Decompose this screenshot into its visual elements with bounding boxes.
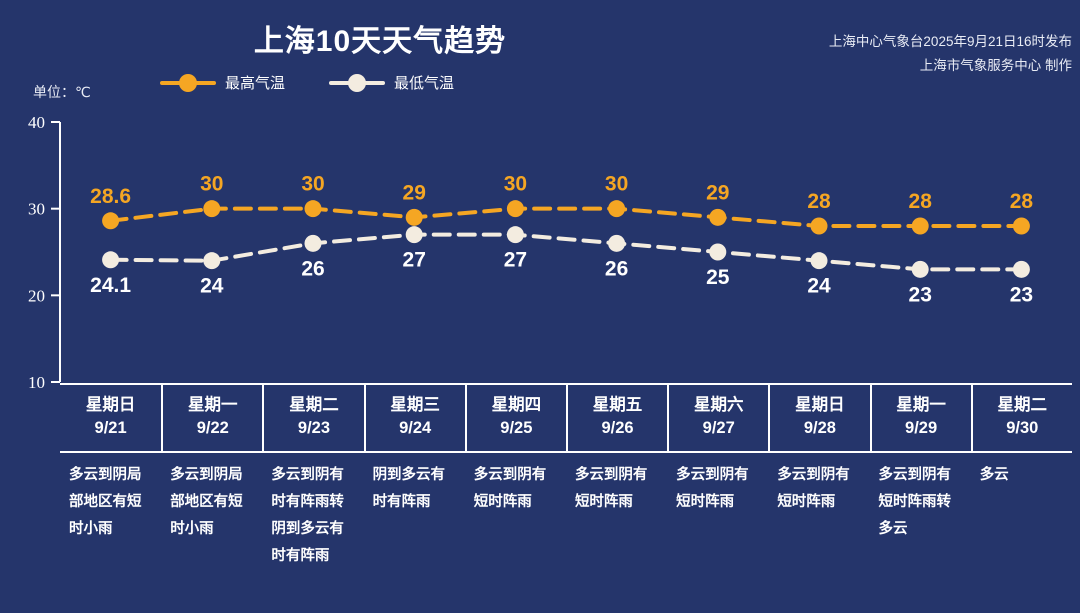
day-weekday: 星期日 — [60, 394, 161, 417]
low-temp-label: 26 — [605, 257, 628, 280]
high-temp-label: 29 — [403, 181, 426, 204]
forecast-day-column[interactable]: 星期一9/22多云到阴局部地区有短时小雨 — [161, 385, 262, 570]
forecast-day-column[interactable]: 星期三9/24阴到多云有时有阵雨 — [364, 385, 465, 570]
svg-text:20: 20 — [28, 286, 45, 305]
high-temp-label: 30 — [605, 173, 628, 196]
forecast-day-column[interactable]: 星期四9/25多云到阴有短时阵雨 — [465, 385, 566, 570]
day-date: 9/23 — [264, 417, 363, 440]
day-header: 星期日9/28 — [768, 385, 869, 451]
day-weekday: 星期一 — [872, 394, 971, 417]
day-header: 星期一9/29 — [870, 385, 971, 451]
high-temp-label: 30 — [301, 173, 324, 196]
day-weekday: 星期二 — [264, 394, 363, 417]
day-weekday: 星期一 — [163, 394, 262, 417]
day-header: 星期四9/25 — [465, 385, 566, 451]
low-temp-label: 27 — [403, 249, 426, 272]
day-date: 9/27 — [669, 417, 768, 440]
day-date: 9/25 — [467, 417, 566, 440]
high-temp-label: 28.6 — [90, 185, 131, 208]
day-date: 9/29 — [872, 417, 971, 440]
day-weather-description: 多云到阴局部地区有短时小雨 — [60, 453, 161, 543]
temperature-trend-chart: 40302010 28.630302930302928282824.124262… — [0, 0, 1080, 400]
forecast-day-column[interactable]: 星期六9/27多云到阴有短时阵雨 — [667, 385, 768, 570]
day-weather-description: 多云到阴有短时阵雨 — [768, 453, 869, 516]
high-temp-label: 29 — [706, 181, 729, 204]
day-date: 9/22 — [163, 417, 262, 440]
low-temp-label: 25 — [706, 266, 730, 289]
day-header: 星期二9/23 — [262, 385, 363, 451]
day-weather-description: 阴到多云有时有阵雨 — [364, 453, 465, 516]
high-temp-label: 30 — [504, 173, 527, 196]
day-weekday: 星期二 — [973, 394, 1072, 417]
day-weekday: 星期六 — [669, 394, 768, 417]
day-date: 9/24 — [366, 417, 465, 440]
low-temp-label: 23 — [1010, 283, 1033, 306]
day-header: 星期日9/21 — [60, 385, 161, 451]
day-weather-description: 多云到阴局部地区有短时小雨 — [161, 453, 262, 543]
svg-text:30: 30 — [28, 200, 45, 219]
forecast-day-column[interactable]: 星期二9/30多云 — [971, 385, 1072, 570]
day-header: 星期一9/22 — [161, 385, 262, 451]
high-temp-label: 28 — [807, 190, 831, 213]
high-temp-series — [102, 200, 1030, 234]
low-temp-label: 27 — [504, 249, 527, 272]
low-temp-label: 24.1 — [90, 274, 131, 297]
forecast-day-table: 星期日9/21多云到阴局部地区有短时小雨星期一9/22多云到阴局部地区有短时小雨… — [60, 383, 1072, 570]
low-temp-label: 26 — [301, 257, 324, 280]
day-header: 星期五9/26 — [566, 385, 667, 451]
day-weekday: 星期五 — [568, 394, 667, 417]
day-header: 星期六9/27 — [667, 385, 768, 451]
day-date: 9/21 — [60, 417, 161, 440]
low-temp-series — [102, 226, 1030, 278]
day-weekday: 星期日 — [770, 394, 869, 417]
day-weather-description: 多云到阴有时有阵雨转阴到多云有时有阵雨 — [262, 453, 363, 570]
day-date: 9/26 — [568, 417, 667, 440]
day-weather-description: 多云到阴有短时阵雨 — [667, 453, 768, 516]
forecast-day-column[interactable]: 星期日9/28多云到阴有短时阵雨 — [768, 385, 869, 570]
high-temp-label: 28 — [1010, 190, 1034, 213]
chart-svg: 40302010 28.630302930302928282824.124262… — [0, 0, 1080, 400]
day-date: 9/30 — [973, 417, 1072, 440]
high-temp-label: 30 — [200, 173, 223, 196]
day-header: 星期二9/30 — [971, 385, 1072, 451]
day-date: 9/28 — [770, 417, 869, 440]
y-axis: 40302010 — [28, 113, 60, 392]
low-temp-label: 24 — [200, 275, 224, 298]
day-weather-description: 多云到阴有短时阵雨 — [566, 453, 667, 516]
low-temp-label: 24 — [807, 275, 831, 298]
day-weekday: 星期四 — [467, 394, 566, 417]
svg-text:10: 10 — [28, 373, 45, 392]
day-weather-description: 多云到阴有短时阵雨 — [465, 453, 566, 516]
forecast-day-column[interactable]: 星期二9/23多云到阴有时有阵雨转阴到多云有时有阵雨 — [262, 385, 363, 570]
forecast-day-column[interactable]: 星期日9/21多云到阴局部地区有短时小雨 — [60, 385, 161, 570]
forecast-day-column[interactable]: 星期一9/29多云到阴有短时阵雨转多云 — [870, 385, 971, 570]
svg-text:40: 40 — [28, 113, 45, 132]
high-temp-label: 28 — [909, 190, 933, 213]
day-header: 星期三9/24 — [364, 385, 465, 451]
day-weather-description: 多云到阴有短时阵雨转多云 — [870, 453, 971, 543]
low-temp-label: 23 — [909, 283, 932, 306]
day-weather-description: 多云 — [971, 453, 1072, 489]
day-weekday: 星期三 — [366, 394, 465, 417]
forecast-day-column[interactable]: 星期五9/26多云到阴有短时阵雨 — [566, 385, 667, 570]
